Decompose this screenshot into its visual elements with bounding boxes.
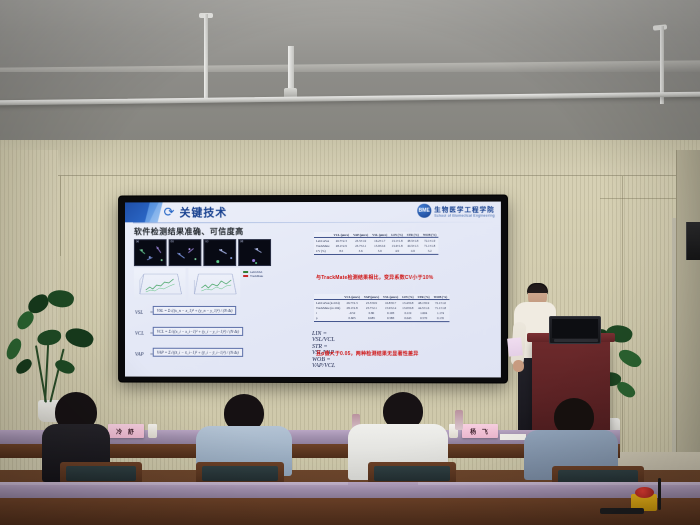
annotation-pvalue: 且p值大于0.05，两种检测结果无显著性差异 (316, 350, 418, 357)
logo-name-cn: 生物医学工程学院 (434, 204, 495, 214)
cell: 4.9 (405, 248, 421, 254)
plot-svg (188, 268, 240, 300)
chair-pad (202, 466, 278, 481)
cell: 13.1±1.8 (389, 238, 405, 244)
cell: 0.645 (400, 316, 416, 322)
ratio-lin: LIN = VSL/VCL (312, 331, 335, 343)
legend-swatch (243, 275, 248, 276)
microscopy-panel: (a) (134, 239, 167, 266)
cell: 0.685 (362, 316, 381, 322)
legend-swatch (243, 271, 248, 272)
wall-seam (60, 176, 61, 256)
cell: 44.5±1.6 (416, 305, 432, 310)
cell: 13.4±0.8 (400, 300, 416, 306)
ratio-wob: WOB = VAP/VCL (312, 357, 335, 369)
emergency-stop-cap[interactable] (635, 487, 654, 498)
cell: 0.135 (432, 316, 450, 322)
trajectory-plot-row: LabCASA TrackMate (134, 268, 263, 300)
pipe-hanger (204, 14, 208, 98)
formula-label: VAP (135, 353, 144, 358)
slide-subtitle: 软件检测结果准确、可信度高 (134, 226, 244, 237)
bottle (455, 410, 463, 430)
institution-logo: BME 生物医学工程学院 School of Biomedical Engine… (417, 204, 495, 218)
paper-on-desk (500, 434, 526, 440)
swirl-icon: ⟳ (164, 205, 177, 218)
monitor-strip (554, 339, 598, 342)
cell: 4.9 (389, 248, 405, 254)
legend-label: TrackMate (250, 274, 263, 278)
nameplate-label: 杨 飞 (470, 427, 490, 436)
nameplate: 杨 飞 (462, 424, 498, 438)
panel-label: (d) (240, 240, 243, 243)
title-underline (133, 222, 494, 224)
presenter-hand (513, 360, 524, 372)
wall-right-corner (676, 150, 700, 480)
logo-mark: BME (417, 204, 431, 218)
results-table-top: VCL (μm/s) VAP (μm/s) VSL (μm/s) LIN (%)… (314, 232, 438, 255)
panel-label: (b) (171, 240, 174, 243)
presentation-display[interactable]: ⟳ 关键技术 BME 生物医学工程学院 School of Biomedical… (119, 196, 507, 383)
cell: 48.1±0.9 (416, 300, 432, 306)
table-row: CV (%) 8.5 3.6 5.9 4.9 4.9 3.2 (314, 248, 438, 254)
nameplate-label: 冷 舒 (116, 427, 136, 436)
legend-item: TrackMate (243, 274, 263, 278)
table-row: p 0.605 0.685 0.588 0.645 0.570 0.135 (314, 316, 449, 322)
nameplate: 冷 舒 (108, 424, 144, 438)
formula-label: VCL (135, 332, 144, 337)
cell: 3.6 (351, 248, 370, 254)
desk-edge-highlight (0, 482, 348, 485)
microscopy-panel: (b) (169, 239, 202, 266)
wall-upper-band (0, 140, 700, 176)
cell: 13.4±1.8 (389, 243, 405, 248)
formula-expression: VCL = Σ√((x_i − x_i−1)² + (y_i − y_i−1)²… (153, 327, 243, 336)
cell: 3.2 (421, 248, 439, 254)
monitor-screen (552, 319, 598, 338)
plot-legend: LabCASA TrackMate (243, 268, 263, 278)
cell: 0.605 (342, 316, 362, 322)
slide-title: 关键技术 (180, 204, 228, 220)
cell: 5.9 (370, 248, 389, 254)
formula-expression: VSL = Σ√((x_n − x_1)² + (y_n − y_1)²) / … (153, 306, 237, 315)
row-label: p (314, 316, 342, 322)
estop-cable (658, 478, 661, 510)
conference-room-scene: ⟳ 关键技术 BME 生物医学工程学院 School of Biomedical… (0, 0, 700, 525)
cell: 13.0±0.8 (400, 305, 416, 310)
microscopy-panel-row: (a) (b) (c) (134, 239, 271, 266)
annotation-cv: 与TrackMate检测结果相比，变异系数CV小于10% (316, 274, 433, 281)
panel-label: (c) (205, 240, 208, 243)
desk-row-front-front (0, 498, 700, 525)
row-label: CV (%) (314, 249, 331, 255)
chair-pad (66, 466, 136, 481)
cell: 0.588 (381, 316, 400, 322)
remote-control[interactable] (600, 508, 644, 514)
panel-label: (a) (136, 240, 139, 243)
trajectory-plot-3d (134, 268, 186, 300)
formula-vap: VAP = VAP = Σ√((x̄_i − x̄_i−1)² + (ȳ_i −… (135, 348, 294, 364)
chair-pad (374, 466, 450, 481)
row-label: TrackMate (314, 243, 331, 248)
trajectory-plot-3d (188, 268, 240, 300)
row-label: LabCASA (n=104) (314, 300, 342, 306)
wall-seam (676, 150, 677, 480)
formula-vcl: VCL = VCL = Σ√((x_i − x_i−1)² + (y_i − y… (135, 327, 294, 343)
paper-cup (148, 424, 157, 438)
confidence-monitor[interactable] (549, 316, 601, 344)
formula-label: VSL (135, 311, 143, 316)
results-table-bottom: VCL (μm/s) VAP (μm/s) VSL (μm/s) LIN (%)… (314, 294, 449, 322)
cell: 8.5 (331, 249, 351, 255)
microscopy-panel: (d) (238, 239, 271, 266)
formula-expression: VAP = Σ√((x̄_i − x̄_i−1)² + (ȳ_i − ȳ_i−1… (153, 348, 243, 357)
logo-name-en: School of Biomedical Engineering (434, 214, 495, 218)
presenter-paper (507, 337, 523, 356)
wall-speaker (686, 222, 700, 260)
row-label: TrackMate (n=104) (314, 305, 342, 310)
row-label: LabCASA (314, 238, 331, 244)
slide-content: ⟳ 关键技术 BME 生物医学工程学院 School of Biomedical… (125, 202, 501, 378)
plot-svg (134, 268, 186, 300)
microscopy-panel: (c) (203, 239, 236, 266)
cell: 0.570 (416, 316, 432, 322)
formula-block: VSL = VSL = Σ√((x_n − x_1)² + (y_n − y_1… (135, 306, 294, 369)
formula-vsl: VSL = VSL = Σ√((x_n − x_1)² + (y_n − y_1… (135, 306, 294, 322)
